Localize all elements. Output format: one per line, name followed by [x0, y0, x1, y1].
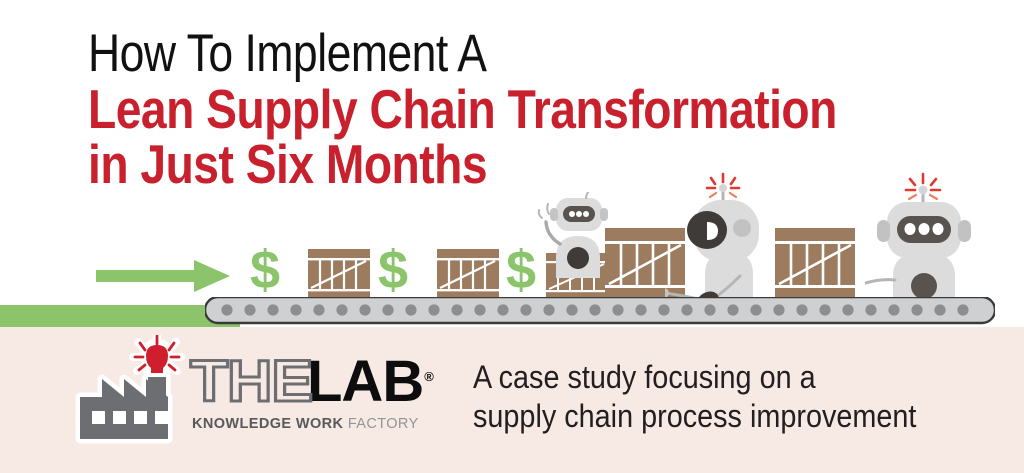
logo-subtitle: KNOWLEDGE WORK FACTORY [192, 416, 419, 432]
green-accent-band [0, 305, 240, 327]
logo-word-lab: LAB [307, 353, 423, 411]
dollar-sign-1: $ [250, 243, 280, 297]
tagline-line-1: A case study focusing on a [473, 358, 916, 397]
logo-subtitle-bold: KNOWLEDGE WORK [192, 416, 343, 432]
robot-small-waving [530, 192, 626, 305]
logo-word-the: THE [190, 353, 312, 411]
tagline-line-2: supply chain process improvement [473, 397, 916, 436]
green-arrow-icon [96, 258, 231, 299]
poster-canvas: How To Implement A Lean Supply Chain Tra… [0, 0, 1024, 473]
registered-mark: ® [424, 370, 433, 383]
crate-1 [308, 249, 370, 304]
brand-logo[interactable]: THELAB® KNOWLEDGE WORK FACTORY [72, 333, 432, 455]
logo-subtitle-light: FACTORY [348, 416, 419, 432]
crate-5 [775, 228, 855, 305]
page-title: How To Implement A Lean Supply Chain Tra… [88, 28, 968, 191]
tagline: A case study focusing on a supply chain … [473, 358, 916, 437]
dollar-sign-2: $ [378, 243, 408, 297]
crate-2 [437, 249, 499, 304]
conveyor-belt [205, 297, 995, 330]
headline-line-1: How To Implement A [88, 28, 827, 80]
logo-wordmark: THELAB® [190, 353, 433, 411]
headline-line-2: Lean Supply Chain Transformation [88, 82, 827, 136]
